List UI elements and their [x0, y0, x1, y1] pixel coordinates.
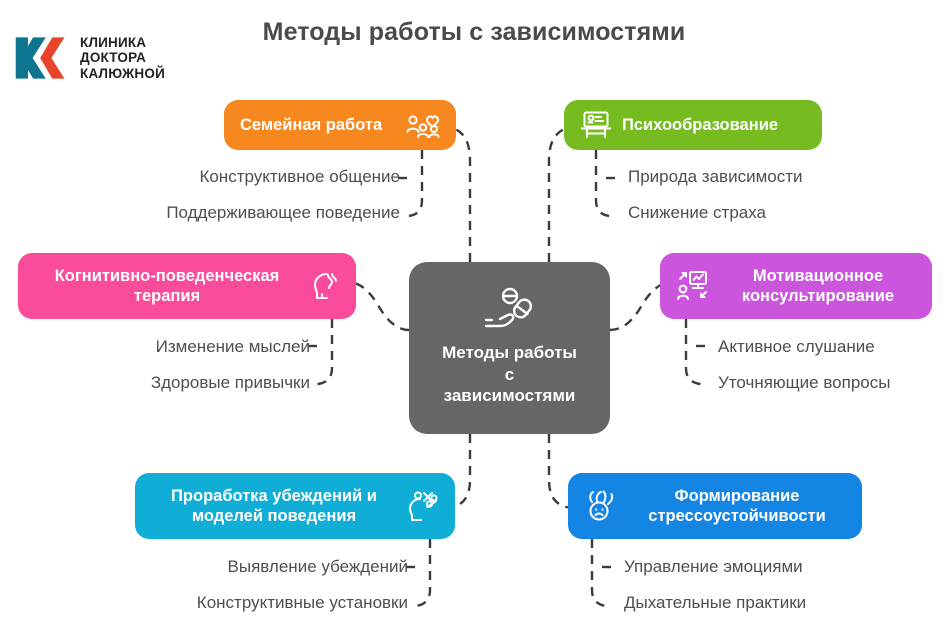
branch-family[interactable]: Семейная работа [224, 100, 456, 150]
infographic-canvas: КЛИНИКА ДОКТОРА КАЛЮЖНОЙ Методы работы с… [0, 0, 948, 634]
branch-motivation-item-2: Уточняющие вопросы [718, 374, 948, 391]
center-node[interactable]: Методы работы с зависимостями [409, 262, 610, 434]
branch-psycho-label: Психообразование [622, 115, 778, 135]
center-line-3: зависимостями [442, 385, 577, 407]
branch-stress-item-2: Дыхательные практики [624, 594, 944, 611]
branch-motivation-item-1: Активное слушание [718, 338, 948, 355]
branch-motivation[interactable]: Мотивационное консультирование [660, 253, 932, 319]
branch-beliefs-label: Проработка убеждений и моделей поведения [151, 486, 397, 526]
hand-pills-icon [482, 287, 538, 336]
branch-beliefs[interactable]: Проработка убеждений и моделей поведения [135, 473, 455, 539]
branch-stress-label-line-2: стрессоустойчивости [648, 507, 825, 525]
head-thoughts-icon [310, 270, 340, 302]
branch-cbt-item-2: Здоровые привычки [10, 374, 310, 391]
wire-cbt-items [314, 319, 332, 385]
branch-motivation-label: Мотивационное консультирование [720, 266, 916, 306]
branch-beliefs-label-line-2: моделей поведения [192, 507, 356, 525]
stressed-face-icon [584, 490, 618, 522]
family-heart-icon [406, 110, 440, 140]
center-node-label: Методы работы с зависимостями [442, 342, 577, 407]
wire-center-cbt [348, 282, 409, 330]
page-title: Методы работы с зависимостями [0, 18, 948, 47]
branch-beliefs-item-1: Выявление убеждений [50, 558, 408, 575]
branch-cbt-item-1: Изменение мыслей [10, 338, 310, 355]
branch-motivation-label-line-1: Мотивационное [753, 267, 883, 285]
branch-family-label: Семейная работа [240, 115, 396, 135]
branch-cbt-label: Когнитивно-поведенческая терапия [34, 266, 300, 306]
wire-motivation-items [686, 319, 704, 385]
branch-family-item-1: Конструктивное общение [40, 168, 400, 185]
branch-cbt-label-line-1: Когнитивно-поведенческая [55, 267, 280, 285]
head-percent-icon [407, 490, 439, 522]
branch-beliefs-label-line-1: Проработка убеждений и [171, 487, 377, 505]
branch-cbt-label-line-2: терапия [134, 287, 200, 305]
branch-family-item-2: Поддерживающее поведение [20, 204, 400, 221]
wire-beliefs-items [412, 539, 430, 607]
branch-psycho-item-1: Природа зависимости [628, 168, 948, 185]
center-line-2: с [442, 364, 577, 386]
branch-cbt[interactable]: Когнитивно-поведенческая терапия [18, 253, 356, 319]
branch-stress-item-1: Управление эмоциями [624, 558, 944, 575]
wire-psycho-items [596, 150, 614, 217]
person-chart-arrows-icon [676, 270, 710, 302]
branch-stress-label-line-1: Формирование [675, 487, 800, 505]
center-line-1: Методы работы [442, 342, 577, 364]
wire-stress-items [592, 539, 610, 607]
branch-psycho[interactable]: Психообразование [564, 100, 822, 150]
branch-beliefs-item-2: Конструктивные установки [30, 594, 408, 611]
branch-stress[interactable]: Формирование стрессоустойчивости [568, 473, 862, 539]
branch-stress-label: Формирование стрессоустойчивости [628, 486, 846, 526]
logo-line-2: ДОКТОРА [80, 50, 165, 65]
presentation-board-icon [580, 110, 612, 140]
wire-family-items [404, 150, 422, 217]
logo-line-3: КАЛЮЖНОЙ [80, 66, 165, 81]
branch-psycho-item-2: Снижение страха [628, 204, 948, 221]
branch-motivation-label-line-2: консультирование [742, 287, 894, 305]
